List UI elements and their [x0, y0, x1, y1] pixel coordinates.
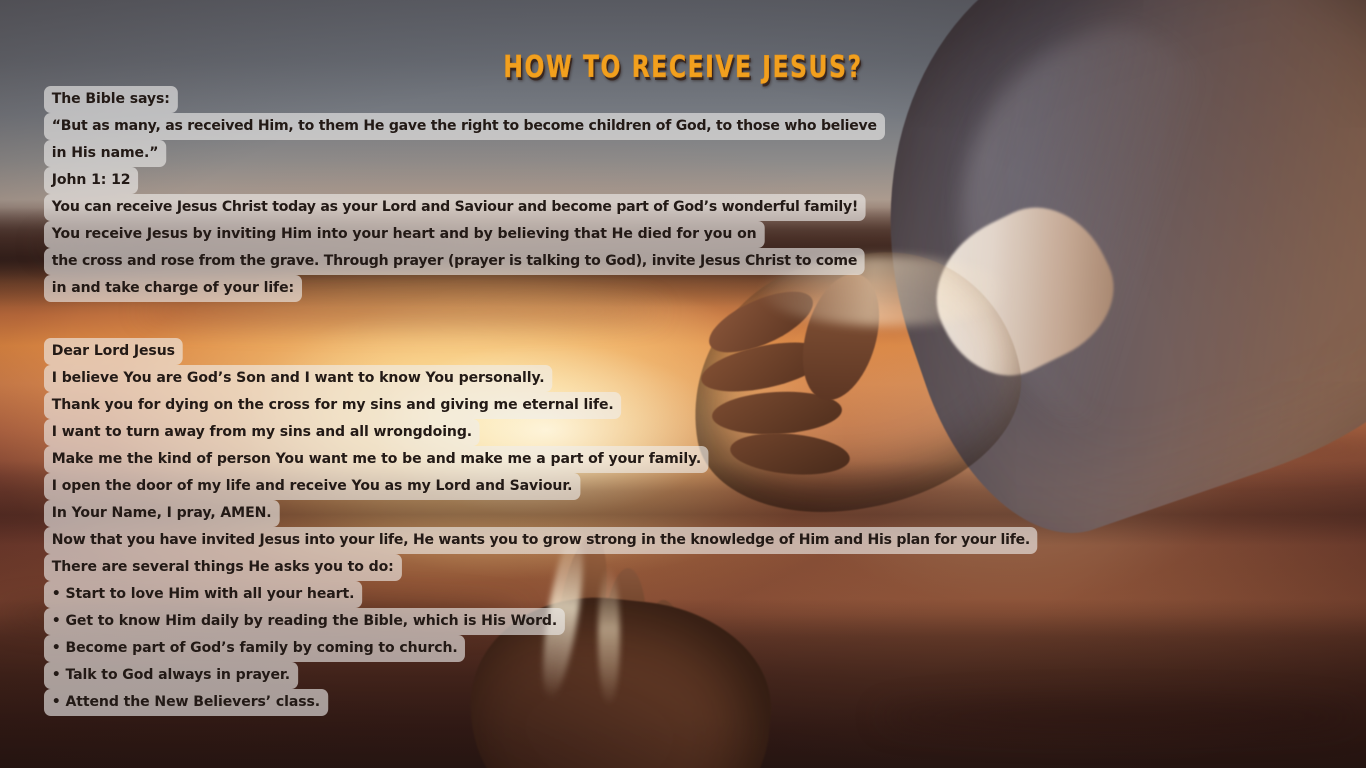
text-line: in His name.” — [44, 140, 166, 167]
text-line: You can receive Jesus Christ today as yo… — [44, 194, 866, 221]
text-line: John 1: 12 — [44, 167, 138, 194]
text-line: The Bible says: — [44, 86, 178, 113]
text-line: the cross and rose from the grave. Throu… — [44, 248, 865, 275]
text-line: “But as many, as received Him, to them H… — [44, 113, 885, 140]
text-line: • Attend the New Believers’ class. — [44, 689, 328, 716]
text-line: • Talk to God always in prayer. — [44, 662, 298, 689]
text-line: You receive Jesus by inviting Him into y… — [44, 221, 764, 248]
text-line: • Start to love Him with all your heart. — [44, 581, 362, 608]
text-line: Now that you have invited Jesus into you… — [44, 527, 1038, 554]
scripture-text-block: The Bible says:“But as many, as received… — [44, 86, 911, 302]
text-line: Dear Lord Jesus — [44, 338, 183, 365]
text-line: Make me the kind of person You want me t… — [44, 446, 709, 473]
text-line: There are several things He asks you to … — [44, 554, 401, 581]
page-title: HOW TO RECEIVE JESUS? — [150, 50, 1215, 85]
text-line: I believe You are God’s Son and I want t… — [44, 365, 552, 392]
text-line: • Get to know Him daily by reading the B… — [44, 608, 565, 635]
text-line: I want to turn away from my sins and all… — [44, 419, 480, 446]
text-line: I open the door of my life and receive Y… — [44, 473, 580, 500]
slide-canvas: HOW TO RECEIVE JESUS? The Bible says:“Bu… — [0, 0, 1366, 768]
text-line: Thank you for dying on the cross for my … — [44, 392, 621, 419]
text-line: in and take charge of your life: — [44, 275, 302, 302]
prayer-text-block: Dear Lord JesusI believe You are God’s S… — [44, 338, 1068, 716]
text-line: • Become part of God’s family by coming … — [44, 635, 465, 662]
text-line: In Your Name, I pray, AMEN. — [44, 500, 279, 527]
